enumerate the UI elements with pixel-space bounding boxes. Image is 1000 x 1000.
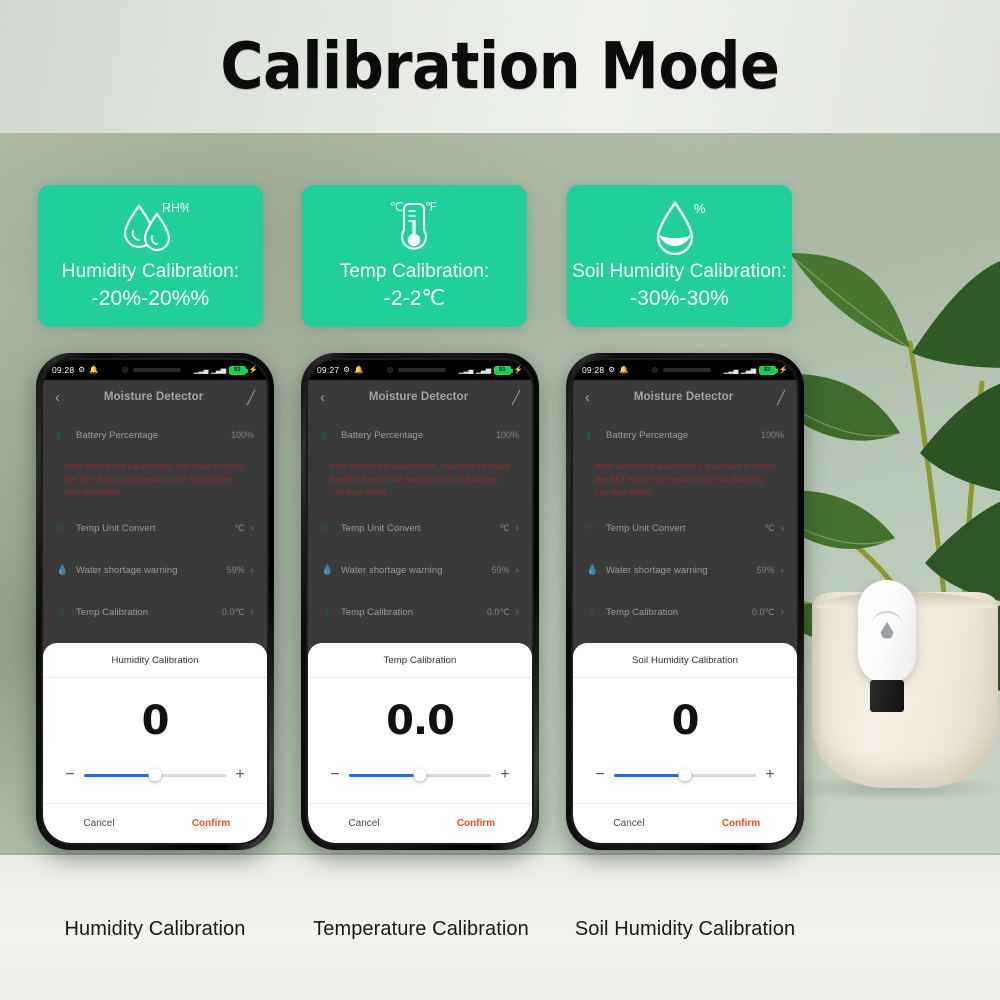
sensor-probe	[870, 680, 904, 712]
row-label: Water shortage warning	[72, 565, 227, 576]
phone-mockup-temperature: 09:27 ⚙ 🔔 ▁▂▄ ▁▃▅ 93	[301, 353, 539, 850]
row-label: Battery Percentage	[72, 430, 231, 441]
phone-frame: 09:28 ⚙ 🔔 ▁▂▄ ▁▃▅ 93	[566, 353, 804, 850]
phone-screen: 09:28 ⚙ 🔔 ▁▂▄ ▁▃▅ 93	[43, 360, 267, 843]
chevron-right-icon: ›	[775, 565, 784, 576]
charging-icon: ⚡	[779, 366, 788, 374]
soil-moisture-sensor	[858, 580, 916, 710]
card-title: Humidity Calibration:	[62, 258, 239, 285]
bell-icon: 🔔	[619, 366, 628, 374]
slider-fill	[349, 774, 420, 777]
row-water-shortage-warning[interactable]: 💧 Water shortage warning 59% ›	[573, 549, 797, 591]
feature-cards: RH% Humidity Calibration: -20%-20%% ℃ ℉	[0, 185, 1000, 335]
status-bar-left: 09:28 ⚙ 🔔	[582, 365, 628, 375]
confirm-button[interactable]: Confirm	[420, 818, 532, 829]
earpiece-speaker	[133, 368, 181, 372]
back-button[interactable]: ‹	[55, 390, 60, 405]
poster-page: Calibration Mode	[0, 0, 1000, 1000]
water-drop-icon: 💧	[321, 565, 337, 576]
row-label: Battery Percentage	[337, 430, 496, 441]
row-value: ℃	[500, 523, 510, 534]
camera-notch	[117, 363, 193, 377]
calibration-bottom-sheet: Temp Calibration 0.0 − +	[308, 643, 532, 843]
row-label: Temp Calibration	[337, 607, 487, 618]
row-label: Temp Unit Convert	[337, 523, 500, 534]
row-battery-percentage[interactable]: ▮ Battery Percentage 100%	[573, 414, 797, 456]
calibration-bottom-sheet: Soil Humidity Calibration 0 − +	[573, 643, 797, 843]
card-range: -30%-30%	[630, 285, 729, 312]
app-title: Moisture Detector	[590, 391, 777, 403]
row-label: Temp Unit Convert	[72, 523, 235, 534]
charging-icon: ⚡	[249, 366, 258, 374]
row-value: 0.0℃	[222, 607, 245, 618]
phone-bezel: 09:28 ⚙ 🔔 ▁▂▄ ▁▃▅ 93	[41, 358, 269, 845]
row-temp-unit-convert[interactable]: ⚙ Temp Unit Convert ℃ ›	[573, 507, 797, 549]
slider-thumb[interactable]	[414, 769, 427, 782]
sheet-actions: Cancel Confirm	[308, 803, 532, 843]
calibration-value: 0.0	[308, 678, 532, 767]
app-title: Moisture Detector	[325, 391, 512, 403]
sensor-droplet-icon	[881, 622, 894, 639]
phone-mockup-soil-humidity: 09:28 ⚙ 🔔 ▁▂▄ ▁▃▅ 93	[566, 353, 804, 850]
app-bar: ‹ Moisture Detector ╱	[43, 380, 267, 414]
temp-unit-icon: ⚙	[586, 523, 602, 534]
row-value: 0.0℃	[752, 607, 775, 618]
battery-icon: ▮	[321, 430, 337, 441]
confirm-button[interactable]: Confirm	[685, 818, 797, 829]
status-time: 09:27	[317, 365, 339, 375]
row-label: Temp Unit Convert	[602, 523, 765, 534]
app-title: Moisture Detector	[60, 391, 247, 403]
row-value: 100%	[761, 430, 784, 440]
caption-humidity: Humidity Calibration	[36, 918, 274, 941]
slider-track[interactable]	[84, 774, 226, 777]
earpiece-speaker	[398, 368, 446, 372]
thermometer-small-icon: 🌡	[586, 607, 602, 618]
card-title: Soil Humidity Calibration:	[572, 258, 787, 285]
temp-unit-icon: ⚙	[321, 523, 337, 534]
row-battery-percentage[interactable]: ▮ Battery Percentage 100%	[43, 414, 267, 456]
set-key-notice: After setting the parameters, you need t…	[308, 456, 532, 507]
edit-pencil-icon[interactable]: ╱	[777, 391, 785, 404]
battery-icon: ▮	[586, 430, 602, 441]
thermometer-small-icon: 🌡	[321, 607, 337, 618]
calibration-slider[interactable]: − +	[43, 767, 267, 803]
camera-notch	[382, 363, 458, 377]
chevron-right-icon: ›	[775, 523, 784, 534]
camera-notch	[647, 363, 723, 377]
phone-frame: 09:28 ⚙ 🔔 ▁▂▄ ▁▃▅ 93	[36, 353, 274, 850]
row-label: Battery Percentage	[602, 430, 761, 441]
status-bar-left: 09:27 ⚙ 🔔	[317, 365, 363, 375]
chevron-right-icon: ›	[775, 607, 784, 618]
slider-thumb[interactable]	[679, 769, 692, 782]
row-value: ℃	[765, 523, 775, 534]
bell-icon: 🔔	[354, 366, 363, 374]
set-key-notice: After setting the parameters, you need t…	[43, 456, 267, 507]
row-label: Water shortage warning	[602, 565, 757, 576]
phone-mockup-humidity: 09:28 ⚙ 🔔 ▁▂▄ ▁▃▅ 93	[36, 353, 274, 850]
front-camera-icon	[652, 367, 658, 373]
row-value: ℃	[235, 523, 245, 534]
signal-icon: ▁▂▄	[724, 366, 738, 374]
row-temp-unit-convert[interactable]: ⚙ Temp Unit Convert ℃ ›	[43, 507, 267, 549]
card-temp-calibration: ℃ ℉ Temp Calibration: -2-2℃	[302, 185, 527, 327]
signal-icon: ▁▂▄	[194, 366, 208, 374]
card-soil-humidity-calibration: % Soil Humidity Calibration: -30%-30%	[567, 185, 792, 327]
slider-thumb[interactable]	[149, 769, 162, 782]
humidity-droplets-icon: RH%	[113, 196, 189, 258]
calibration-value: 0	[573, 678, 797, 767]
svg-text:℉: ℉	[425, 200, 436, 214]
row-label: Temp Calibration	[602, 607, 752, 618]
svg-text:℃: ℃	[390, 200, 403, 214]
row-value: 59%	[492, 565, 510, 575]
row-temp-calibration[interactable]: 🌡 Temp Calibration 0.0℃ ›	[308, 591, 532, 633]
status-bar-right: ▁▂▄ ▁▃▅ 93 ⚡	[194, 366, 258, 375]
sheet-title: Soil Humidity Calibration	[573, 643, 797, 678]
app-bar: ‹ Moisture Detector ╱	[308, 380, 532, 414]
card-range: -20%-20%%	[92, 285, 210, 312]
water-drop-icon: 💧	[56, 565, 72, 576]
card-title: Temp Calibration:	[340, 258, 490, 285]
back-button[interactable]: ‹	[585, 390, 590, 405]
row-value: 59%	[757, 565, 775, 575]
row-value: 0.0℃	[487, 607, 510, 618]
row-water-shortage-warning[interactable]: 💧 Water shortage warning 59% ›	[308, 549, 532, 591]
charging-icon: ⚡	[514, 366, 523, 374]
signal-icon: ▁▂▄	[459, 366, 473, 374]
status-bar: 09:28 ⚙ 🔔 ▁▂▄ ▁▃▅ 93	[573, 360, 797, 380]
header-band: Calibration Mode	[0, 0, 1000, 133]
network-icon: ▁▃▅	[211, 366, 226, 374]
row-value: 100%	[231, 430, 254, 440]
chevron-right-icon: ›	[510, 607, 519, 618]
battery-status-icon: 93	[229, 366, 246, 375]
confirm-button[interactable]: Confirm	[155, 818, 267, 829]
front-camera-icon	[122, 367, 128, 373]
svg-text:%: %	[694, 201, 706, 216]
set-key-notice: After setting the parameters, you need t…	[573, 456, 797, 507]
calibration-slider[interactable]: − +	[308, 767, 532, 803]
calibration-bottom-sheet: Humidity Calibration 0 − +	[43, 643, 267, 843]
decrement-button[interactable]: −	[65, 767, 75, 783]
row-battery-percentage[interactable]: ▮ Battery Percentage 100%	[308, 414, 532, 456]
row-label: Water shortage warning	[337, 565, 492, 576]
settings-icon: ⚙	[343, 366, 350, 374]
row-value: 59%	[227, 565, 245, 575]
network-icon: ▁▃▅	[476, 366, 491, 374]
sheet-title: Humidity Calibration	[43, 643, 267, 678]
caption-soil-humidity: Soil Humidity Calibration	[558, 918, 812, 941]
status-bar: 09:28 ⚙ 🔔 ▁▂▄ ▁▃▅ 93	[43, 360, 267, 380]
svg-text:RH%: RH%	[162, 201, 189, 215]
row-value: 100%	[496, 430, 519, 440]
increment-button[interactable]: +	[235, 767, 245, 783]
status-bar-left: 09:28 ⚙ 🔔	[52, 365, 98, 375]
chevron-right-icon: ›	[245, 523, 254, 534]
earpiece-speaker	[663, 368, 711, 372]
calibration-value: 0	[43, 678, 267, 767]
phone-captions: Humidity Calibration Temperature Calibra…	[0, 918, 1000, 952]
back-button[interactable]: ‹	[320, 390, 325, 405]
edit-pencil-icon[interactable]: ╱	[247, 391, 255, 404]
battery-status-icon: 93	[494, 366, 511, 375]
phone-screen: 09:28 ⚙ 🔔 ▁▂▄ ▁▃▅ 93	[573, 360, 797, 843]
increment-button[interactable]: +	[765, 767, 775, 783]
slider-fill	[84, 774, 155, 777]
chevron-right-icon: ›	[245, 565, 254, 576]
row-temp-calibration[interactable]: 🌡 Temp Calibration 0.0℃ ›	[573, 591, 797, 633]
water-drop-icon: 💧	[586, 565, 602, 576]
status-time: 09:28	[52, 365, 74, 375]
sheet-actions: Cancel Confirm	[43, 803, 267, 843]
thermometer-small-icon: 🌡	[56, 607, 72, 618]
row-temp-calibration[interactable]: 🌡 Temp Calibration 0.0℃ ›	[43, 591, 267, 633]
page-title: Calibration Mode	[220, 30, 779, 104]
slider-fill	[614, 774, 685, 777]
edit-pencil-icon[interactable]: ╱	[512, 391, 520, 404]
battery-icon: ▮	[56, 430, 72, 441]
phone-bezel: 09:27 ⚙ 🔔 ▁▂▄ ▁▃▅ 93	[306, 358, 534, 845]
slider-track[interactable]	[614, 774, 756, 777]
cancel-button[interactable]: Cancel	[308, 818, 420, 829]
sheet-title: Temp Calibration	[308, 643, 532, 678]
settings-icon: ⚙	[608, 366, 615, 374]
battery-status-icon: 93	[759, 366, 776, 375]
decrement-button[interactable]: −	[595, 767, 605, 783]
status-bar: 09:27 ⚙ 🔔 ▁▂▄ ▁▃▅ 93	[308, 360, 532, 380]
product-scene: RH% Humidity Calibration: -20%-20%% ℃ ℉	[0, 133, 1000, 1000]
slider-track[interactable]	[349, 774, 491, 777]
phone-screen: 09:27 ⚙ 🔔 ▁▂▄ ▁▃▅ 93	[308, 360, 532, 843]
status-time: 09:28	[582, 365, 604, 375]
phone-bezel: 09:28 ⚙ 🔔 ▁▂▄ ▁▃▅ 93	[571, 358, 799, 845]
chevron-right-icon: ›	[510, 565, 519, 576]
front-camera-icon	[387, 367, 393, 373]
thermometer-icon: ℃ ℉	[377, 196, 453, 258]
decrement-button[interactable]: −	[330, 767, 340, 783]
network-icon: ▁▃▅	[741, 366, 756, 374]
increment-button[interactable]: +	[500, 767, 510, 783]
cancel-button[interactable]: Cancel	[43, 818, 155, 829]
sensor-body	[858, 580, 916, 684]
chevron-right-icon: ›	[245, 607, 254, 618]
soil-droplet-icon: %	[645, 196, 715, 258]
row-temp-unit-convert[interactable]: ⚙ Temp Unit Convert ℃ ›	[308, 507, 532, 549]
card-humidity-calibration: RH% Humidity Calibration: -20%-20%%	[38, 185, 263, 327]
sheet-actions: Cancel Confirm	[573, 803, 797, 843]
row-label: Temp Calibration	[72, 607, 222, 618]
settings-icon: ⚙	[78, 366, 85, 374]
status-bar-right: ▁▂▄ ▁▃▅ 93 ⚡	[459, 366, 523, 375]
cancel-button[interactable]: Cancel	[573, 818, 685, 829]
calibration-slider[interactable]: − +	[573, 767, 797, 803]
phone-frame: 09:27 ⚙ 🔔 ▁▂▄ ▁▃▅ 93	[301, 353, 539, 850]
bell-icon: 🔔	[89, 366, 98, 374]
status-bar-right: ▁▂▄ ▁▃▅ 93 ⚡	[724, 366, 788, 375]
row-water-shortage-warning[interactable]: 💧 Water shortage warning 59% ›	[43, 549, 267, 591]
caption-temperature: Temperature Calibration	[294, 918, 548, 941]
temp-unit-icon: ⚙	[56, 523, 72, 534]
card-range: -2-2℃	[384, 285, 445, 312]
chevron-right-icon: ›	[510, 523, 519, 534]
app-bar: ‹ Moisture Detector ╱	[573, 380, 797, 414]
